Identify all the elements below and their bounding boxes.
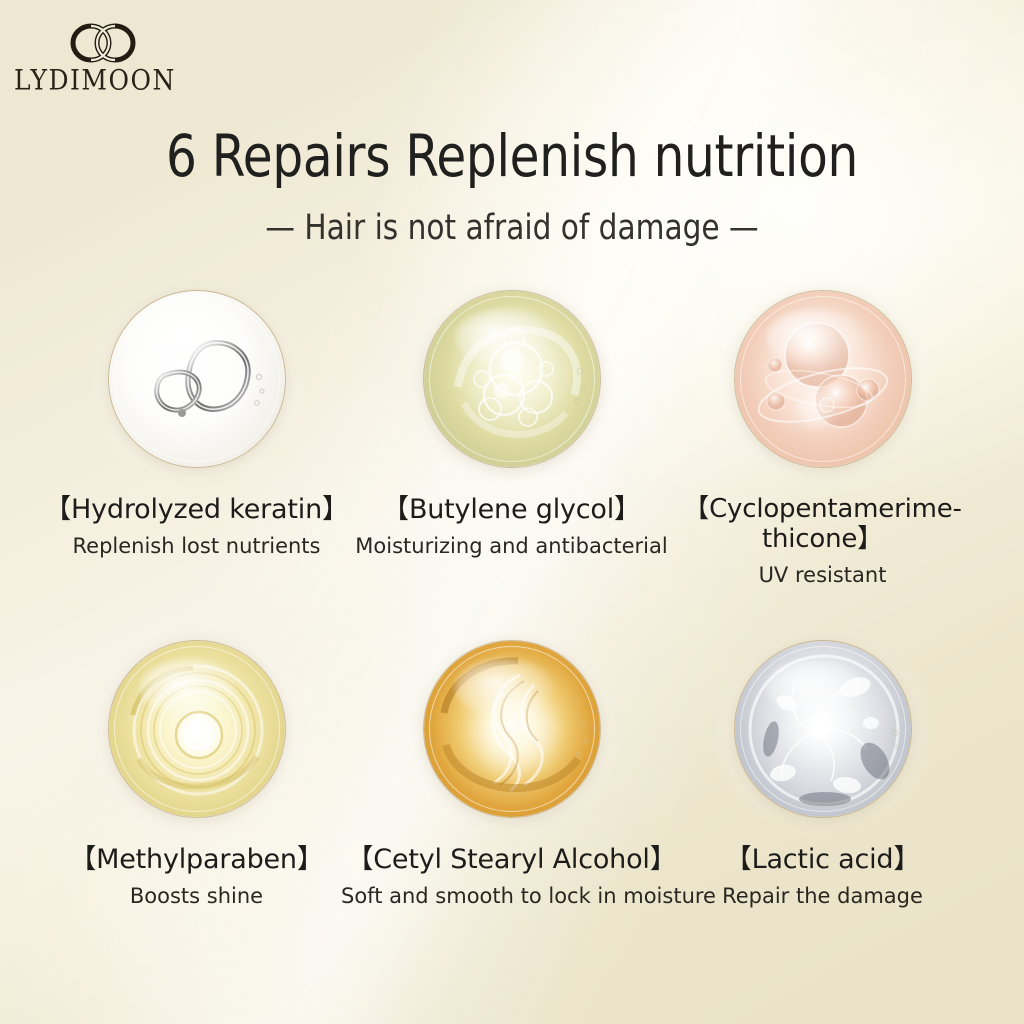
pearl-bubble-cluster bbox=[735, 291, 912, 468]
silver-icy-sphere-swatch bbox=[734, 640, 912, 818]
swatch-methylparaben bbox=[108, 640, 286, 818]
swatch-hydrolyzed-keratin bbox=[108, 290, 286, 468]
ingredient-description: Repair the damage bbox=[652, 884, 993, 909]
ingredient-card-butylene-glycol: 【Butylene glycol】 Moisturizing and antib… bbox=[341, 290, 682, 560]
gel-bubble-cluster bbox=[424, 291, 601, 468]
ingredient-name: 【Lactic acid】 bbox=[652, 844, 993, 875]
ingredient-card-lactic-acid: 【Lactic acid】 Repair the damage bbox=[652, 640, 993, 910]
ingredient-description: Boosts shine bbox=[26, 884, 367, 909]
ingredient-description: Moisturizing and antibacterial bbox=[341, 534, 682, 559]
page-title: 6 Repairs Replenish nutrition bbox=[36, 126, 988, 187]
page-subtitle: — Hair is not afraid of damage — bbox=[31, 207, 994, 249]
swatch-butylene-glycol bbox=[423, 290, 601, 468]
ingredient-name: 【Butylene glycol】 bbox=[341, 494, 682, 525]
ingredient-description: Soft and smooth to lock in moisture bbox=[341, 884, 682, 909]
ingredient-description: Replenish lost nutrients bbox=[26, 534, 367, 559]
ingredient-card-cetyl-stearyl-alcohol: 【Cetyl Stearyl Alcohol】 Soft and smooth … bbox=[341, 640, 682, 910]
champagne-swirl-rings bbox=[109, 641, 286, 818]
ingredient-grid: 【Hydrolyzed keratin】 Replenish lost nutr… bbox=[0, 290, 1024, 990]
ingredient-row: 【Methylparaben】 Boosts shine bbox=[0, 640, 1024, 990]
brand-wordmark: LYDIMOON bbox=[14, 66, 234, 94]
ingredient-name: 【Methylparaben】 bbox=[26, 844, 367, 875]
rose-pearl-bubbles-swatch bbox=[734, 290, 912, 468]
ingredient-description: UV resistant bbox=[652, 563, 993, 588]
brand-logo: LYDIMOON bbox=[14, 22, 234, 91]
ingredient-infographic-poster: LYDIMOON 6 Repairs Replenish nutrition —… bbox=[0, 0, 1024, 1024]
ingredient-name: 【Cyclopentamerime-thicone】 bbox=[652, 494, 993, 554]
ingredient-name: 【Hydrolyzed keratin】 bbox=[26, 494, 367, 525]
ingredient-name: 【Cetyl Stearyl Alcohol】 bbox=[341, 844, 682, 875]
keratin-ring-strands bbox=[109, 291, 286, 468]
clear-liquid-droplet-swatch bbox=[108, 290, 286, 468]
icy-sphere-cracks bbox=[735, 641, 912, 818]
ingredient-card-hydrolyzed-keratin: 【Hydrolyzed keratin】 Replenish lost nutr… bbox=[26, 290, 367, 560]
amber-oil-swirl-swatch bbox=[423, 640, 601, 818]
ingredient-row: 【Hydrolyzed keratin】 Replenish lost nutr… bbox=[0, 290, 1024, 640]
two-interlocking-rings-icon bbox=[60, 22, 146, 64]
champagne-liquid-swatch bbox=[108, 640, 286, 818]
ingredient-card-cyclopentamerimethicone: 【Cyclopentamerime-thicone】 UV resistant bbox=[652, 290, 993, 589]
oil-swirl-strands bbox=[424, 641, 601, 818]
swatch-cetyl-stearyl-alcohol bbox=[423, 640, 601, 818]
swatch-lactic-acid bbox=[734, 640, 912, 818]
swatch-cyclopentamerimethicone bbox=[734, 290, 912, 468]
olive-gel-bubbles-swatch bbox=[423, 290, 601, 468]
ingredient-card-methylparaben: 【Methylparaben】 Boosts shine bbox=[26, 640, 367, 910]
